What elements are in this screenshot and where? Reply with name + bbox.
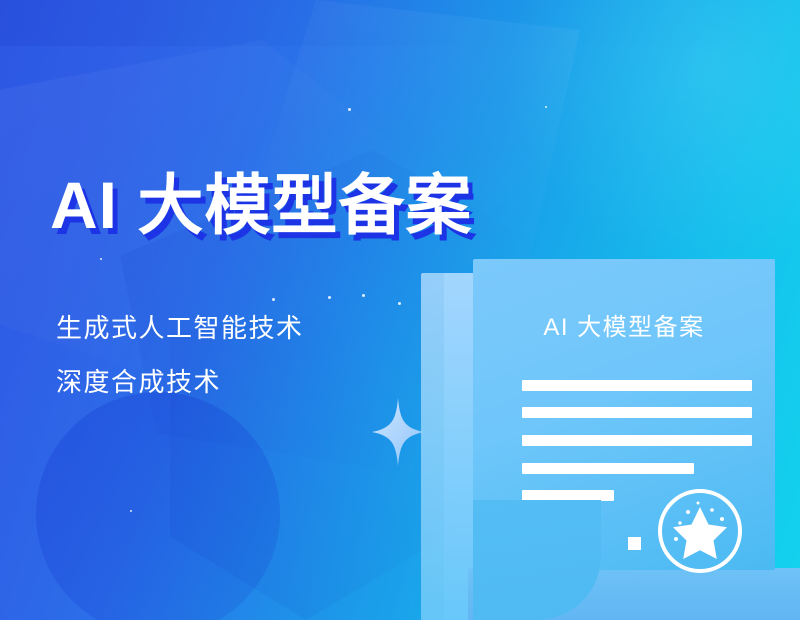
ai-model-filing-banner: AI 大模型备案 生成式人工智能技术 深度合成技术 AI 大模型备案 — [0, 0, 800, 620]
background-glow-top-right — [500, 0, 800, 280]
background-top-band — [0, 0, 800, 46]
doc-line-4 — [522, 463, 694, 474]
background-facet-c — [250, 0, 580, 300]
decor-dot — [328, 296, 331, 299]
decor-dot — [545, 106, 547, 108]
decor-dot — [100, 258, 102, 260]
doc-square-4 — [628, 537, 641, 550]
decor-dot — [362, 294, 365, 297]
subtitle-line-1: 生成式人工智能技术 — [56, 308, 304, 345]
doc-line-2 — [522, 407, 752, 418]
doc-line-1 — [522, 380, 752, 391]
document-card-title: AI 大模型备案 — [473, 307, 775, 342]
page-title: AI 大模型备案 — [50, 172, 472, 238]
decor-dot — [398, 302, 401, 305]
decor-dot — [348, 108, 351, 111]
doc-line-3 — [522, 435, 752, 446]
star-seal-icon — [656, 487, 744, 575]
four-point-sparkle-icon — [372, 398, 424, 466]
background-circle — [36, 392, 280, 620]
decor-dot — [130, 510, 132, 512]
decor-dot — [272, 298, 275, 301]
subtitle-line-2: 深度合成技术 — [56, 362, 221, 399]
